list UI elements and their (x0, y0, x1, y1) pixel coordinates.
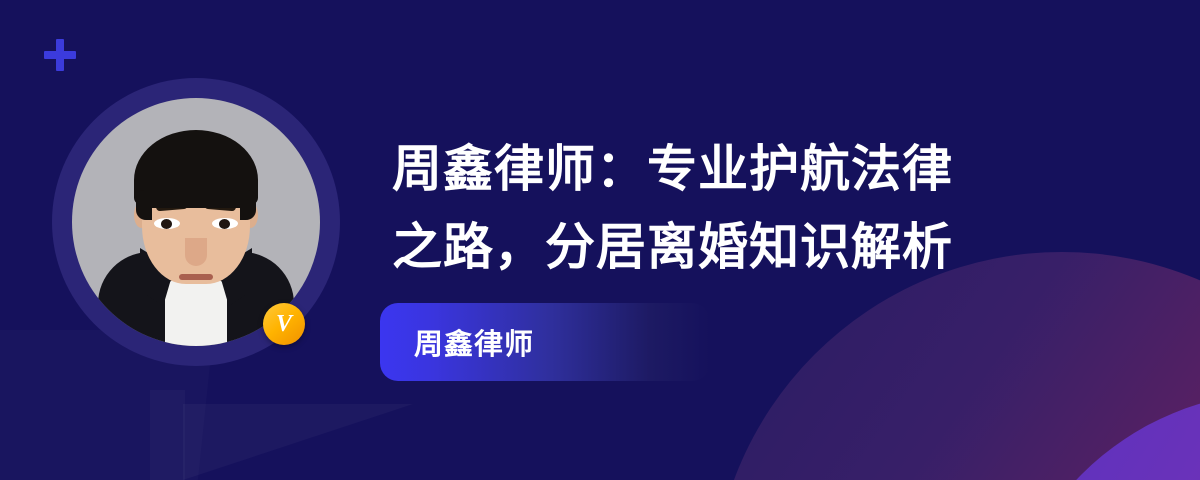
portrait-hair (134, 130, 258, 208)
portrait-eye-left (154, 218, 180, 229)
verified-badge-label: V (276, 312, 292, 336)
portrait-mouth (179, 274, 213, 280)
decorative-triangle-left (183, 404, 413, 480)
decorative-pillar (150, 390, 185, 480)
avatar: V (52, 78, 340, 366)
portrait-nose (185, 238, 207, 266)
author-name-chip: 周鑫律师 (380, 303, 710, 381)
decorative-blob-magenta (712, 252, 1200, 480)
plus-icon (44, 39, 76, 71)
decorative-blob-purple (1000, 392, 1200, 480)
verified-badge-icon: V (263, 303, 305, 345)
promo-banner: V 周鑫律师：专业护航法律 之路，分居离婚知识解析 周鑫律师 (0, 0, 1200, 480)
portrait-eye-right (212, 218, 238, 229)
headline-title: 周鑫律师：专业护航法律 之路，分居离婚知识解析 (392, 130, 1092, 286)
author-name-label: 周鑫律师 (414, 321, 534, 363)
